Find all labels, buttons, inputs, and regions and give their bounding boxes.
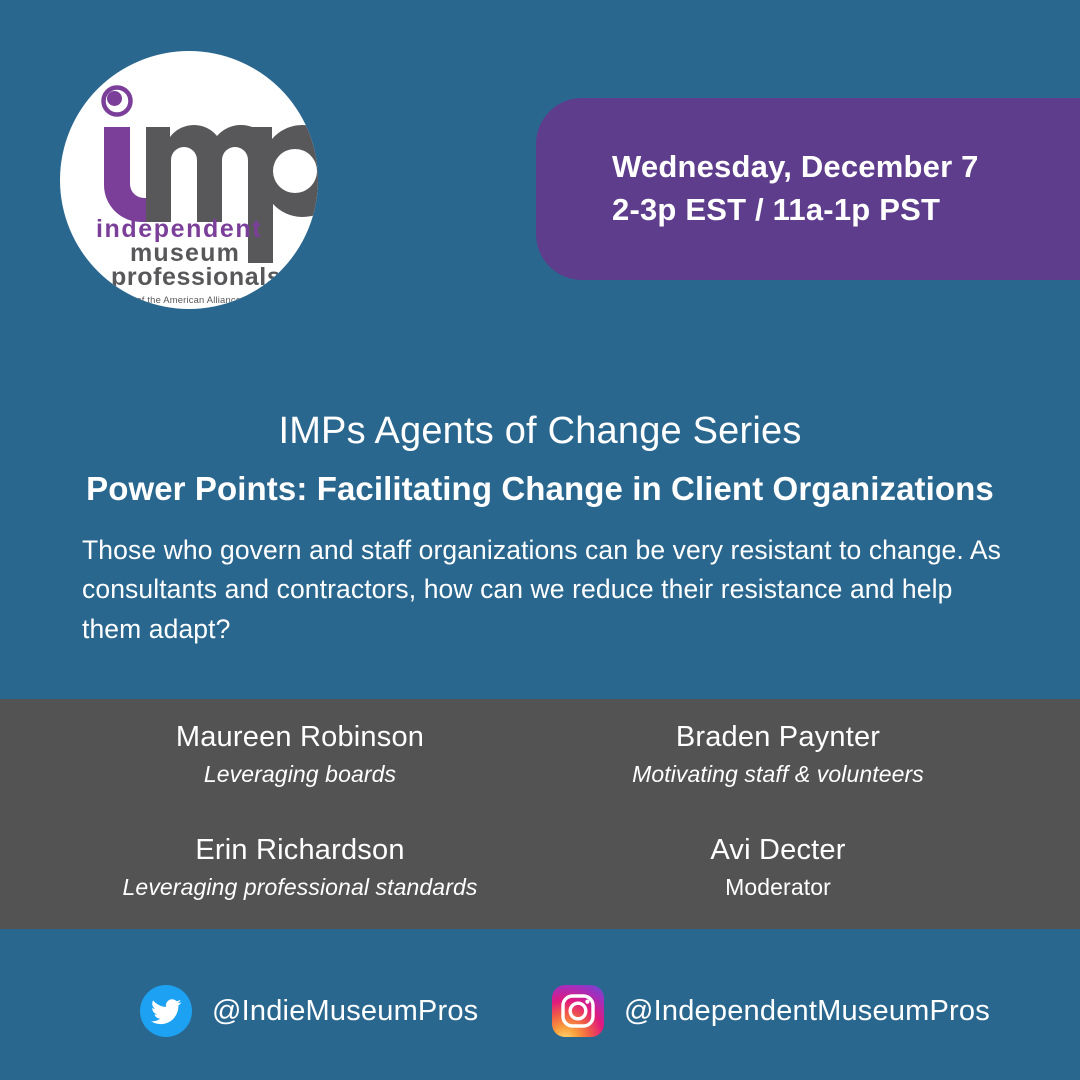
speakers-band: Maureen Robinson Leveraging boards Erin … — [0, 699, 1080, 929]
speaker-avi-decter: Avi Decter Moderator — [538, 832, 1018, 903]
instagram-handle[interactable]: @IndependentMuseumPros — [624, 995, 990, 1028]
speaker-erin-richardson: Erin Richardson Leveraging professional … — [60, 832, 540, 903]
speaker-name: Braden Paynter — [538, 719, 1018, 756]
title-block: IMPs Agents of Change Series Power Point… — [0, 408, 1080, 509]
session-title: Power Points: Facilitating Change in Cli… — [0, 468, 1080, 509]
speaker-braden-paynter: Braden Paynter Motivating staff & volunt… — [538, 719, 1018, 790]
logo-spiral-dot — [104, 88, 131, 115]
speaker-role: Motivating staff & volunteers — [538, 760, 1018, 790]
speaker-name: Erin Richardson — [60, 832, 540, 869]
speaker-column-right: Braden Paynter Motivating staff & volunt… — [538, 699, 1018, 903]
speaker-role: Moderator — [538, 873, 1018, 903]
speaker-maureen-robinson: Maureen Robinson Leveraging boards — [60, 719, 540, 790]
imp-logo-badge: independent museum professionals A Netwo… — [60, 51, 318, 309]
speaker-name: Maureen Robinson — [60, 719, 540, 756]
date-banner: Wednesday, December 7 2-3p EST / 11a-1p … — [536, 98, 1080, 280]
social-link-twitter[interactable]: @IndieMuseumPros — [140, 985, 478, 1037]
instagram-icon[interactable] — [552, 985, 604, 1037]
description-text: Those who govern and staff organizations… — [82, 531, 1012, 649]
social-link-instagram[interactable]: @IndependentMuseumPros — [552, 985, 990, 1037]
twitter-handle[interactable]: @IndieMuseumPros — [212, 995, 478, 1028]
date-line-2: 2-3p EST / 11a-1p PST — [612, 189, 1080, 232]
logo-word-professionals: professionals — [111, 263, 281, 291]
social-footer: @IndieMuseumPros @IndependentMuseumPros — [0, 985, 1080, 1061]
speaker-name: Avi Decter — [538, 832, 1018, 869]
imp-logo-mark: independent museum professionals A Netwo… — [60, 51, 318, 309]
logo-tagline: A Network of the American Alliance of Mu… — [89, 294, 297, 305]
logo-letter-i — [104, 127, 150, 222]
speaker-role: Leveraging professional standards — [60, 873, 540, 903]
speaker-role: Leveraging boards — [60, 760, 540, 790]
twitter-icon[interactable] — [140, 985, 192, 1037]
series-title: IMPs Agents of Change Series — [0, 408, 1080, 456]
speaker-column-left: Maureen Robinson Leveraging boards Erin … — [60, 699, 540, 903]
date-line-1: Wednesday, December 7 — [612, 146, 1080, 189]
